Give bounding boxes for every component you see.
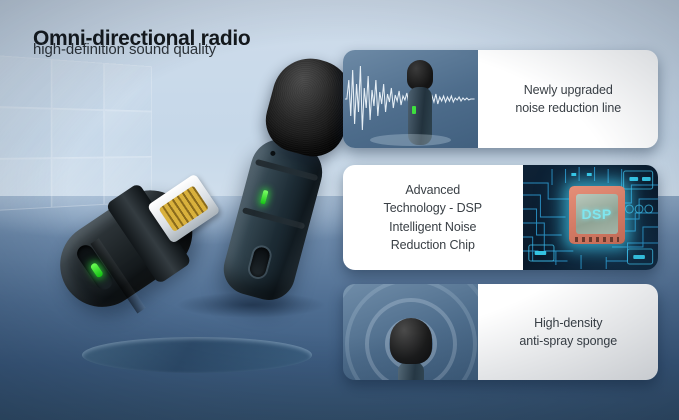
scene-vignette (0, 0, 679, 420)
product-marketing-image: Omni-directional radio high-definition s… (0, 0, 679, 420)
